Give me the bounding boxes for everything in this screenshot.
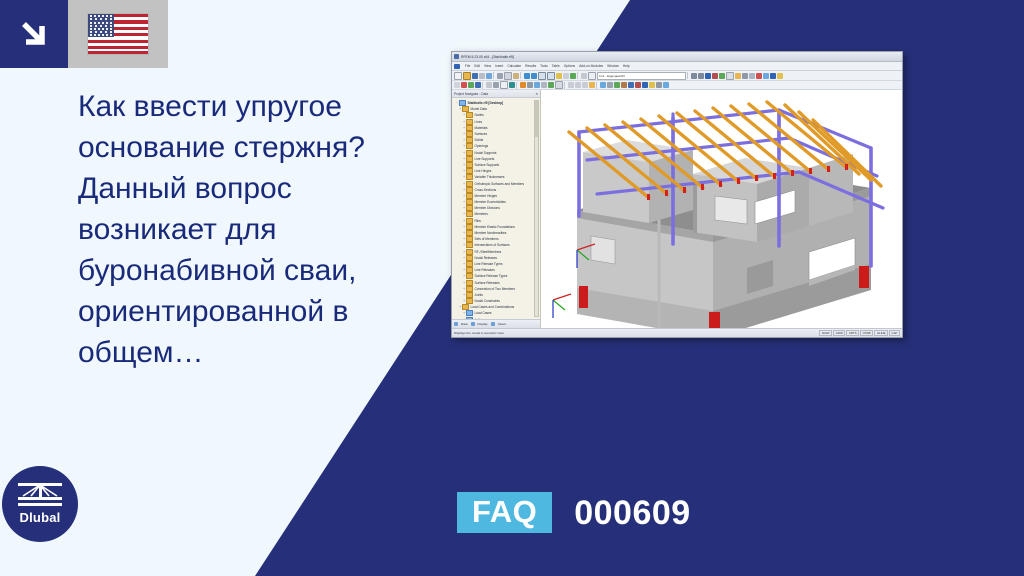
menu-item-addon-modules[interactable]: Add-on Modules [579, 64, 603, 68]
tree-item-label: Nodal Supports [475, 151, 497, 155]
load-tool-icon[interactable] [520, 82, 526, 88]
next-case-icon[interactable] [698, 73, 704, 79]
folder-icon [466, 168, 473, 174]
info-icon[interactable] [770, 73, 776, 79]
tree-item-label: Model Data [471, 107, 487, 111]
tree-item-label: Surface Supports [475, 163, 500, 167]
navigator-tree[interactable]: − Stahlhalle.rf5 [Desktop] +Model Data+N… [452, 98, 540, 319]
folder-icon [466, 211, 473, 217]
support-tool-icon[interactable] [509, 82, 515, 88]
folder-icon [466, 298, 473, 304]
model-viewport[interactable] [541, 90, 902, 328]
material-icon[interactable] [621, 82, 627, 88]
folder-icon [466, 292, 473, 298]
folder-icon [466, 310, 473, 316]
folder-icon [466, 230, 473, 236]
coordinate-axes-corner [553, 294, 571, 318]
folder-icon [462, 106, 469, 112]
tree-item-label: Materials [475, 126, 488, 130]
tree-item-label: Nodal Constraints [475, 299, 500, 303]
view-front-icon[interactable] [568, 82, 574, 88]
project-icon [459, 100, 466, 106]
status-indicator-cells[interactable]: SNAP GRID CRTS OSNP GLINE CAP [819, 330, 900, 336]
folder-icon [466, 218, 473, 224]
toolbar-separator [516, 82, 519, 89]
prev-case-icon[interactable] [691, 73, 697, 79]
status-text: Displays the model in isometric view. [454, 331, 504, 335]
table-icon[interactable] [726, 72, 734, 80]
export-icon[interactable] [656, 82, 662, 88]
hinge-tool-icon[interactable] [527, 82, 533, 88]
menu-item-calculate[interactable]: Calculate [507, 64, 521, 68]
status-cell-osnp[interactable]: OSNP [860, 330, 873, 336]
report-icon[interactable] [649, 82, 655, 88]
status-cell-crts[interactable]: CRTS [846, 330, 859, 336]
folder-icon [466, 162, 473, 168]
dim-tool-icon[interactable] [534, 82, 540, 88]
folder-icon [466, 199, 473, 205]
tree-item-label: Member Divisions [475, 206, 500, 210]
surface-tool-icon[interactable] [486, 82, 492, 88]
tree-item-label: Surfaces [475, 132, 488, 136]
load-case-combobox[interactable]: LC1 - Eigengewicht [597, 72, 686, 80]
copy-tool-icon[interactable] [555, 81, 563, 89]
menu-app-icon [454, 64, 460, 69]
toolbar-separator [564, 82, 567, 89]
menu-item-results[interactable]: Results [525, 64, 536, 68]
tree-item[interactable]: +Actions [454, 317, 540, 319]
opening-tool-icon[interactable] [500, 81, 508, 89]
folder-icon [466, 205, 473, 211]
deformation-icon[interactable] [719, 73, 725, 79]
module-icon[interactable] [663, 82, 669, 88]
window-titlebar[interactable]: RFEM 5.23.00 x64 - [Stahlhalle.rf5] [452, 52, 902, 62]
navigator-header: Project Navigator - Data ✕ [452, 90, 540, 98]
tree-item-label: Joints [475, 293, 483, 297]
slide-canvas: Как ввести упругое основание стержня? Да… [0, 0, 1024, 576]
tree-item-label: Members [475, 212, 488, 216]
render-icon[interactable] [581, 73, 587, 79]
cut-icon[interactable] [497, 73, 503, 79]
data-tab-icon [454, 322, 458, 326]
arrow-down-right-icon[interactable] [0, 0, 68, 68]
window-opening [591, 236, 615, 264]
grid-icon[interactable] [749, 73, 755, 79]
tree-item-label: Ribs [475, 219, 481, 223]
redo-icon[interactable] [531, 73, 537, 79]
tree-item-list[interactable]: +Model Data+Nodes+Lines+Materials+Surfac… [454, 106, 540, 319]
toolbar-separator [596, 82, 599, 89]
app-icon [454, 54, 459, 59]
pan-icon[interactable] [563, 73, 569, 79]
status-bar: Displays the model in isometric view. SN… [452, 328, 902, 337]
folder-icon [466, 181, 473, 187]
folder-icon [466, 255, 473, 261]
mirror-tool-icon[interactable] [541, 82, 547, 88]
faq-footer: FAQ 000609 [457, 492, 691, 533]
folder-icon [466, 273, 473, 279]
tree-item-label: Variable Thicknesses [475, 175, 505, 179]
help-icon[interactable] [777, 73, 783, 79]
navigator-close-icon[interactable]: ✕ [535, 92, 538, 96]
folder-icon [466, 125, 473, 131]
menu-item-options[interactable]: Options [564, 64, 575, 68]
menu-item-table[interactable]: Table [552, 64, 560, 68]
tree-item-label: Nodes [475, 113, 484, 117]
print-icon[interactable] [479, 73, 485, 79]
tree-item-label: Member Hinges [475, 194, 498, 198]
tree-item-label: Line Releases [475, 268, 495, 272]
status-cell-snap[interactable]: SNAP [819, 330, 832, 336]
move-tool-icon[interactable] [548, 82, 554, 88]
menu-item-tools[interactable]: Tools [540, 64, 548, 68]
zoom-out-icon[interactable] [547, 72, 555, 80]
toolbar-separator [577, 72, 580, 79]
toolbar-row-2[interactable] [452, 81, 902, 90]
tree-item-label: Intersections of Surfaces [475, 243, 510, 247]
folder-icon [466, 261, 473, 267]
rotate-icon[interactable] [570, 73, 576, 79]
tree-item-label: Member Elastic Foundations [475, 225, 515, 229]
folder-icon [466, 224, 473, 230]
status-cell-cap[interactable]: CAP [889, 330, 900, 336]
tree-item-label: Member Eccentricities [475, 200, 506, 204]
page-title: Как ввести упругое основание стержня? Да… [78, 86, 423, 373]
tree-item-label: Nodal Releases [475, 256, 498, 260]
tree-item-label: RF-/SteelMembers [475, 250, 502, 254]
wireframe-icon[interactable] [588, 72, 596, 80]
folder-icon [466, 317, 473, 319]
window-title: RFEM 5.23.00 x64 - [Stahlhalle.rf5] [461, 55, 514, 59]
tree-item-label: Line Release Types [475, 262, 503, 266]
logo-wordmark: Dlubal [20, 510, 61, 525]
printout-icon[interactable] [735, 73, 741, 79]
status-cell-gline[interactable]: GLINE [874, 330, 888, 336]
folder-icon [466, 193, 473, 199]
toolbar-separator [687, 72, 690, 79]
truss-bridge-icon [18, 483, 62, 507]
folder-icon [466, 242, 473, 248]
open-file-icon[interactable] [463, 72, 471, 80]
navigator-tab-views[interactable]: Views [498, 322, 506, 326]
undo-icon[interactable] [524, 73, 530, 79]
display-tab-icon [471, 322, 475, 326]
settings-icon[interactable] [742, 73, 748, 79]
window-body: Project Navigator - Data ✕ − Stahlhalle.… [452, 90, 902, 328]
toolbar-separator [493, 72, 496, 79]
menu-item-edit[interactable]: Edit [474, 64, 480, 68]
tree-item-label: Connection of Two Members [475, 287, 516, 291]
analysis-icon[interactable] [642, 82, 648, 88]
folder-icon [466, 112, 473, 118]
partition-wall [693, 182, 697, 234]
results-icon[interactable] [712, 73, 718, 79]
folder-icon [466, 236, 473, 242]
toolbar-separator [520, 72, 523, 79]
project-navigator[interactable]: Project Navigator - Data ✕ − Stahlhalle.… [452, 90, 541, 328]
building-model-3d [541, 90, 902, 328]
folder-icon [466, 137, 473, 143]
tree-item-label: Line Supports [475, 157, 495, 161]
folder-icon [466, 150, 473, 156]
tree-item-label: Actions [475, 318, 485, 319]
select-icon[interactable] [454, 82, 460, 88]
section-icon[interactable] [628, 82, 634, 88]
dlubal-logo[interactable]: Dlubal [2, 466, 78, 542]
solid-tool-icon[interactable] [493, 82, 499, 88]
tree-item-label: Surface Releases [475, 281, 500, 285]
flag-graphic [87, 13, 149, 55]
tree-item-label: Member Nonlinearities [475, 231, 507, 235]
tree-item-label: Solids [475, 138, 484, 142]
folder-icon [466, 143, 473, 149]
faq-badge: FAQ [457, 492, 552, 533]
status-cell-grid[interactable]: GRID [833, 330, 845, 336]
menu-bar[interactable]: File Edit View Insert Calculate Results … [452, 62, 902, 71]
filter-icon[interactable] [607, 82, 613, 88]
zoom-fit-icon[interactable] [556, 73, 562, 79]
copy-icon[interactable] [504, 72, 512, 80]
tree-item-label: Orthotropic Surfaces and Members [475, 182, 525, 186]
calculate-icon[interactable] [705, 73, 711, 79]
tree-item-label: Lines [475, 120, 483, 124]
new-file-icon[interactable] [454, 72, 462, 80]
folder-icon [466, 286, 473, 292]
folder-icon [462, 304, 469, 310]
folder-icon [466, 156, 473, 162]
group-icon[interactable] [614, 82, 620, 88]
save-icon[interactable] [472, 73, 478, 79]
menu-item-window[interactable]: Window [607, 64, 619, 68]
tree-item-label: Load Cases and Combinations [471, 305, 515, 309]
folder-icon [466, 187, 473, 193]
paste-icon[interactable] [513, 73, 519, 79]
tree-item-label: Line Hinges [475, 169, 492, 173]
rfem-application-window[interactable]: RFEM 5.23.00 x64 - [Stahlhalle.rf5] File… [451, 51, 903, 338]
folder-icon [466, 267, 473, 273]
tree-item-label: Load Cases [475, 311, 492, 315]
snap-icon[interactable] [756, 73, 762, 79]
view-iso-icon[interactable] [589, 82, 595, 88]
tree-item-label: Surface Release Types [475, 274, 508, 278]
tree-item-label: Openings [475, 144, 489, 148]
toolbar-separator [482, 82, 485, 89]
preview-icon[interactable] [486, 73, 492, 79]
tree-item-label: Cross-Sections [475, 188, 497, 192]
navigator-tab-data[interactable]: Data [461, 322, 468, 326]
tree-root-label: Stahlhalle.rf5 [Desktop] [468, 101, 504, 105]
layers-icon[interactable] [763, 73, 769, 79]
node-tool-icon[interactable] [461, 82, 467, 88]
mesh-icon[interactable] [635, 82, 641, 88]
navigator-scrollbar[interactable] [534, 100, 539, 317]
scrollbar-thumb[interactable] [535, 101, 538, 137]
zoom-in-icon[interactable] [538, 72, 546, 80]
tree-item-label: Sets of Members [475, 237, 499, 241]
menu-item-view[interactable]: View [484, 64, 491, 68]
views-tab-icon [491, 322, 495, 326]
us-flag-icon[interactable] [68, 0, 168, 68]
member-tool-icon[interactable] [475, 82, 481, 88]
line-tool-icon[interactable] [468, 82, 474, 88]
navigator-tabs[interactable]: Data Display Views [452, 319, 540, 328]
view-top-icon[interactable] [575, 82, 581, 88]
navigator-title: Project Navigator - Data [454, 92, 488, 96]
folder-icon [466, 280, 473, 286]
menu-item-file[interactable]: File [465, 64, 470, 68]
view-side-icon[interactable] [582, 82, 588, 88]
folder-icon [466, 131, 473, 137]
navigator-tab-display[interactable]: Display [478, 322, 488, 326]
top-badge-group [0, 0, 168, 68]
folder-icon [466, 119, 473, 125]
toolbar-row-1[interactable]: LC1 - Eigengewicht [452, 71, 902, 81]
folder-icon [466, 249, 473, 255]
window-opening [715, 196, 747, 224]
menu-item-insert[interactable]: Insert [495, 64, 503, 68]
menu-item-help[interactable]: Help [623, 64, 630, 68]
visibility-icon[interactable] [600, 82, 606, 88]
folder-icon [466, 174, 473, 180]
faq-number: 000609 [574, 496, 690, 530]
